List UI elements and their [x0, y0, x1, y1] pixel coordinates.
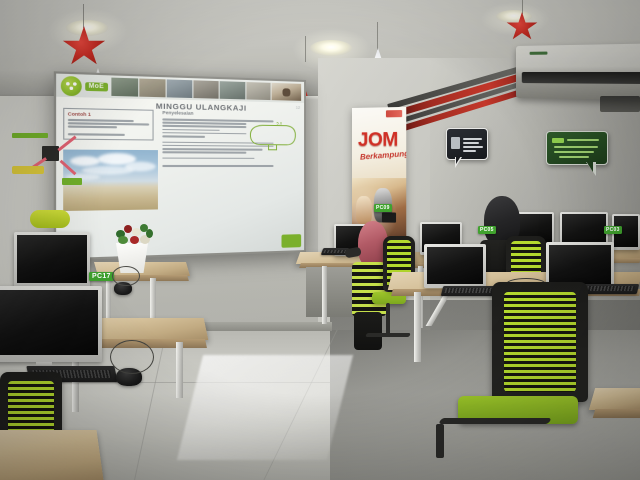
cable-loop	[110, 340, 154, 374]
text-line	[68, 126, 117, 128]
sign-accent-block	[451, 137, 460, 149]
desk-foreground-right	[589, 388, 640, 410]
ac-vent	[522, 72, 640, 84]
wall-sign-green	[546, 131, 608, 165]
sign-green-tail-inner	[586, 161, 593, 172]
cloud	[125, 162, 156, 172]
text-line	[162, 157, 255, 159]
banner-device	[382, 212, 396, 222]
thumb	[246, 82, 270, 100]
thumb	[220, 81, 245, 99]
desk-leg	[414, 292, 421, 362]
sign-text-line	[554, 146, 598, 148]
leaf	[118, 236, 128, 244]
sign-text-line	[463, 150, 476, 152]
text-line	[162, 151, 246, 153]
slide-footer-logo	[282, 234, 302, 248]
chair-leg	[438, 418, 551, 424]
banner-headline: JOM	[358, 129, 398, 152]
wall-sign-dark	[446, 128, 488, 160]
monitor	[0, 286, 102, 362]
thumb	[111, 78, 138, 97]
thumb	[194, 80, 219, 98]
cable-loop	[112, 266, 140, 286]
pc-label-back: PC09	[374, 204, 392, 212]
star-wire-2	[305, 36, 306, 62]
thumb-presenter-face	[271, 83, 301, 101]
flower-arrangement	[112, 222, 154, 246]
keyboard-keys	[445, 288, 496, 293]
monitor	[424, 244, 486, 288]
air-conditioner	[516, 44, 640, 101]
slide-logo-icon	[61, 75, 82, 95]
keyboard-keys	[323, 250, 347, 254]
projection-screen: MoE 12 MINGGU ULANGKAJI Contoh 1	[54, 71, 306, 260]
text-line	[162, 132, 246, 135]
slide-page-number: 12	[296, 105, 300, 110]
chair-leg	[365, 333, 411, 337]
thumb	[139, 78, 165, 97]
wall-decor-cylinder	[30, 210, 70, 228]
text-line	[68, 119, 133, 122]
text-line	[162, 135, 205, 137]
ceiling-light-1	[66, 20, 108, 36]
keyboard	[441, 286, 499, 296]
text-line	[162, 165, 273, 167]
slide-example-label: Contoh 1	[68, 111, 149, 118]
slide-logo-word: MoE	[85, 82, 107, 91]
desk-foreground-right-edge	[593, 409, 640, 418]
classroom-photo: MoE 12 MINGGU ULANGKAJI Contoh 1	[0, 0, 640, 480]
slide-example-box: Contoh 1	[63, 108, 153, 141]
thumb	[167, 79, 193, 98]
person-1-legs	[354, 312, 382, 350]
pc-label-center: PC05	[478, 226, 496, 234]
desk-leg	[176, 342, 183, 398]
banner-figure-1	[356, 196, 372, 224]
sign-text-line	[554, 151, 594, 153]
wall-decor-tag	[62, 178, 82, 185]
slide-diagram-icon: 5.0	[246, 120, 298, 151]
ceiling-light-3	[496, 10, 532, 23]
monitor	[14, 232, 90, 288]
pc-label-front: PC17	[89, 272, 114, 281]
desk-back-left-panel	[306, 267, 358, 317]
monitor-screen	[549, 245, 611, 284]
sign-text-line	[567, 139, 599, 141]
monitor-screen	[0, 290, 98, 355]
text-line	[162, 125, 246, 128]
person-1-body	[352, 262, 386, 316]
text-line	[68, 122, 149, 125]
slide-thumbnail-strip	[111, 78, 301, 101]
ac-indicator	[530, 52, 548, 55]
flower-red	[130, 236, 139, 244]
monitor-screen	[17, 235, 87, 283]
sign-text-line	[463, 146, 483, 148]
desk-leg	[322, 266, 327, 324]
text-line	[68, 133, 125, 135]
slide-solution-label: Penyelesaian	[162, 110, 300, 118]
projector-floor-reflection	[177, 355, 353, 460]
flower-red	[124, 225, 132, 233]
projected-slide: MoE 12 MINGGU ULANGKAJI Contoh 1	[56, 74, 304, 259]
sign-accent-block	[552, 138, 564, 143]
star-wire-4	[522, 0, 523, 14]
sign-text-line	[463, 138, 482, 140]
star-wire-1	[83, 4, 84, 28]
slide-body: 12 MINGGU ULANGKAJI Contoh 1	[56, 97, 304, 259]
sign-text-line	[463, 142, 479, 144]
wall-decor-banner	[12, 166, 44, 174]
wall-decor-green-strip	[12, 133, 48, 138]
ceiling-light-2	[310, 40, 352, 56]
chair-mesh	[504, 292, 575, 393]
leaf	[146, 229, 153, 238]
star-wire-3	[377, 22, 378, 50]
ceiling-vent	[600, 96, 640, 112]
cloud	[70, 156, 100, 166]
pc-label-right: PC03	[604, 226, 622, 234]
monitor-screen	[427, 247, 483, 284]
chair-foreground[interactable]	[492, 282, 588, 402]
desk-foreground-left	[0, 430, 104, 480]
sign-text-line	[559, 156, 589, 158]
text-line	[162, 129, 219, 131]
jom-banner: JOM Berkampung	[352, 107, 406, 241]
banner-brand-icon	[386, 110, 402, 117]
chair-leg	[436, 424, 444, 458]
sign-dark-tail-inner	[456, 156, 461, 164]
chair-leg	[386, 303, 390, 335]
svg-text:5.0: 5.0	[277, 121, 283, 126]
